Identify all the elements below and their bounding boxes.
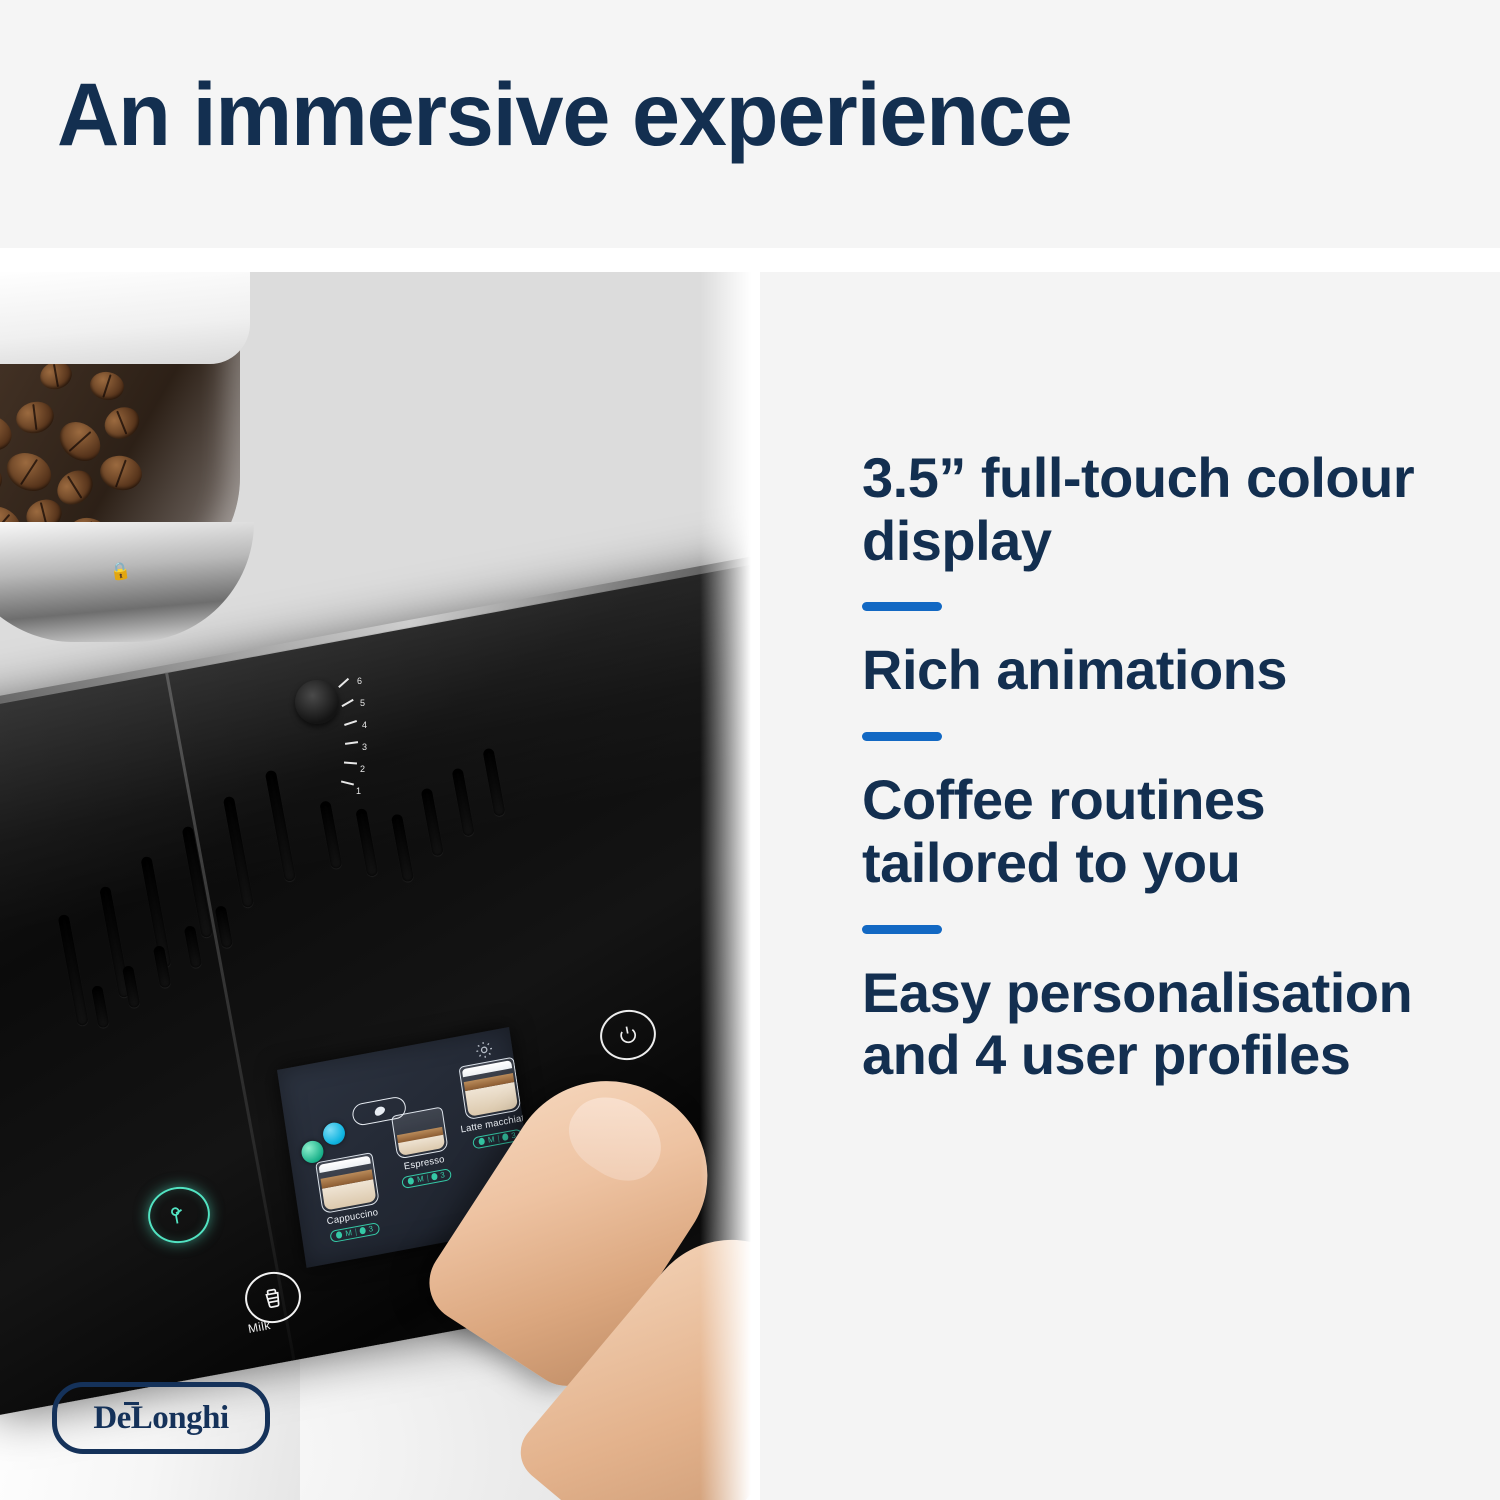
feature-divider [862, 925, 942, 934]
lock-icon: 🔒 [109, 561, 133, 584]
user-profile-icon [165, 1201, 193, 1229]
profile-avatar-cyan[interactable] [322, 1121, 347, 1147]
feature-text: Coffee routines tailored to you [862, 769, 1432, 894]
feature-item-animations: Rich animations [862, 639, 1432, 702]
badge-size: M [487, 1135, 495, 1144]
strength-dot-icon [502, 1133, 509, 1141]
bean-dot-icon [336, 1231, 343, 1239]
power-icon [614, 1021, 642, 1049]
badge-separator: | [354, 1228, 357, 1236]
badge-separator: | [426, 1174, 429, 1182]
bean-dot-icon [479, 1137, 486, 1145]
delonghi-wordmark: DeLonghi [93, 1400, 228, 1436]
badge-size: M [416, 1175, 424, 1184]
badge-strength: 3 [368, 1225, 374, 1234]
gear-icon[interactable] [473, 1038, 496, 1061]
feature-list: 3.5” full-touch colour display Rich anim… [862, 447, 1432, 1087]
page-title: An immersive experience [57, 70, 1072, 159]
grind-setting-dial[interactable] [295, 680, 339, 724]
feature-item-personalisation: Easy personalisation and 4 user profiles [862, 962, 1432, 1087]
milk-carafe-icon [258, 1282, 288, 1312]
badge-strength: 3 [440, 1171, 446, 1180]
drink-badge: M | 3 [401, 1168, 451, 1189]
grind-scale: 6 5 4 3 2 1 [337, 676, 387, 806]
delonghi-logo-text: DeLonghi [93, 1400, 228, 1437]
photo-right-fade [700, 272, 760, 1500]
bean-hopper: 🔒 [0, 272, 260, 612]
fingernail [555, 1081, 676, 1195]
feature-item-display: 3.5” full-touch colour display [862, 447, 1432, 572]
page-root: An immersive experience [0, 0, 1500, 1500]
strength-dot-icon [431, 1173, 438, 1181]
macron-accent [124, 1402, 139, 1406]
badge-size: M [345, 1229, 353, 1238]
feature-text: 3.5” full-touch colour display [862, 447, 1432, 572]
delonghi-logo: DeLonghi [52, 1382, 270, 1454]
badge-separator: | [497, 1134, 500, 1142]
feature-divider [862, 602, 942, 611]
feature-text: Easy personalisation and 4 user profiles [862, 962, 1432, 1087]
feature-divider [862, 732, 942, 741]
feature-panel: 3.5” full-touch colour display Rich anim… [760, 272, 1500, 1500]
feature-item-routines: Coffee routines tailored to you [862, 769, 1432, 894]
bean-hopper-lid [0, 272, 250, 364]
bean-dot-icon [408, 1177, 415, 1185]
product-photo-panel: 🔒 6 5 4 3 2 1 [0, 272, 760, 1500]
feature-text: Rich animations [862, 639, 1432, 702]
latte-cup-icon [458, 1057, 521, 1121]
drink-badge: M | 3 [330, 1222, 380, 1243]
cappuccino-cup-icon [315, 1152, 380, 1214]
espresso-cup-icon [391, 1107, 449, 1160]
strength-dot-icon [359, 1227, 366, 1235]
